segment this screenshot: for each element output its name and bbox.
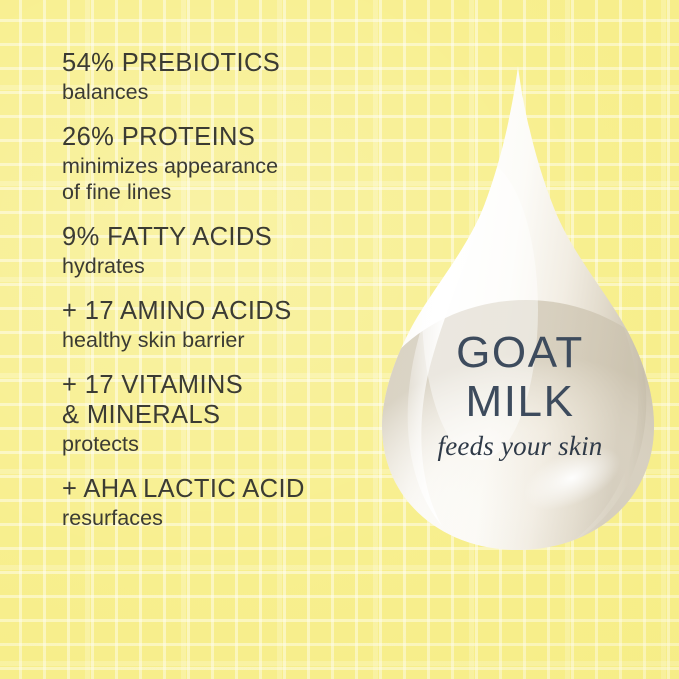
ingredient-benefit: healthy skin barrier: [62, 327, 380, 353]
ingredient-title: 9% FATTY ACIDS: [62, 222, 380, 252]
droplet-icon: [376, 60, 664, 556]
list-item: + 17 AMINO ACIDS healthy skin barrier: [62, 296, 380, 353]
ingredient-list: 54% PREBIOTICS balances 26% PROTEINS min…: [62, 48, 380, 531]
ingredient-title: 54% PREBIOTICS: [62, 48, 380, 78]
list-item: 9% FATTY ACIDS hydrates: [62, 222, 380, 279]
ingredient-title: + AHA LACTIC ACID: [62, 474, 380, 504]
product-infographic: 54% PREBIOTICS balances 26% PROTEINS min…: [0, 0, 679, 679]
list-item: + AHA LACTIC ACID resurfaces: [62, 474, 380, 531]
list-item: 26% PROTEINS minimizes appearance of fin…: [62, 122, 380, 205]
droplet-top-glow: [422, 160, 538, 460]
ingredient-title: 26% PROTEINS: [62, 122, 380, 152]
ingredient-benefit: protects: [62, 431, 380, 457]
ingredient-benefit: balances: [62, 79, 380, 105]
ingredient-benefit: resurfaces: [62, 505, 380, 531]
ingredient-benefit: hydrates: [62, 253, 380, 279]
list-item: + 17 VITAMINS & MINERALS protects: [62, 370, 380, 457]
ingredient-title: + 17 AMINO ACIDS: [62, 296, 380, 326]
ingredient-benefit: minimizes appearance of fine lines: [62, 153, 380, 205]
milk-droplet-illustration: GOAT MILK feeds your skin: [376, 60, 664, 556]
ingredient-title: + 17 VITAMINS & MINERALS: [62, 370, 380, 430]
list-item: 54% PREBIOTICS balances: [62, 48, 380, 105]
